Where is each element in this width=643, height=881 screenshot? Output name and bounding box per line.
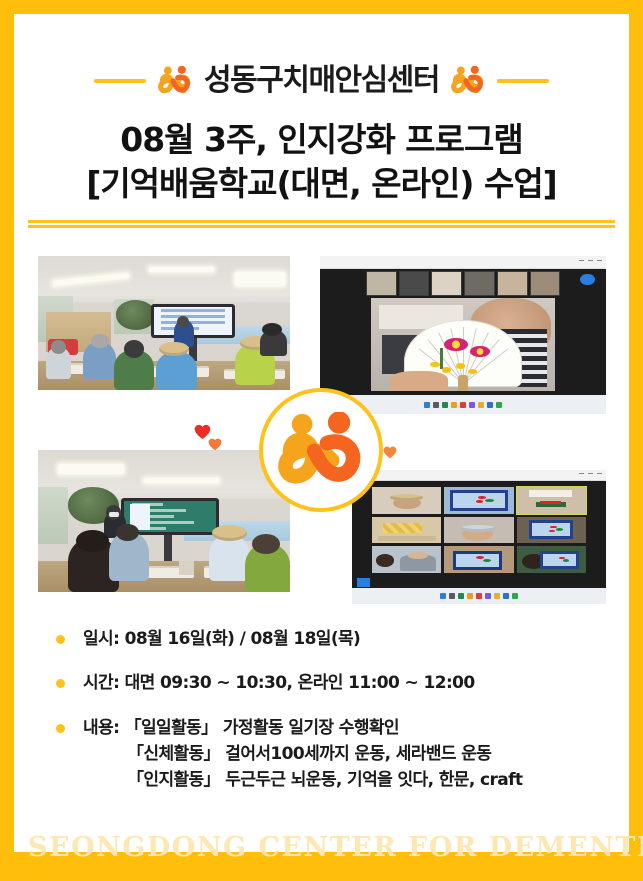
info-date: 일시: 08월 16일(화) / 08월 18일(목)	[83, 626, 360, 652]
header: 성동구치매안심센터	[14, 54, 629, 108]
footer-text: SEONGDONG CENTER FOR DEMENTIA	[28, 834, 615, 861]
center-logo-icon	[259, 388, 383, 512]
list-item: 내용: 「일일활동」 가정활동 일기장 수행확인 「신체활동」 걸어서100세까…	[28, 715, 615, 794]
center-logo-icon	[451, 66, 485, 96]
photo-bottom-right	[352, 470, 606, 604]
bullet-icon	[56, 635, 65, 644]
title-line-1: 08월 3주, 인지강화 프로그램	[14, 118, 629, 162]
list-item: 시간: 대면 09:30 ~ 10:30, 온라인 11:00 ~ 12:00	[28, 670, 615, 696]
title-divider	[28, 220, 615, 228]
heart-orange	[208, 438, 222, 451]
bullet-icon	[56, 679, 65, 688]
info-time: 시간: 대면 09:30 ~ 10:30, 온라인 11:00 ~ 12:00	[83, 670, 475, 696]
photo-bottom-left	[38, 450, 290, 592]
header-rule-left	[94, 79, 146, 83]
title-line-2: [기억배움학교(대면, 온라인) 수업]	[14, 162, 629, 206]
bullet-icon	[56, 724, 65, 733]
footer: SEONGDONG CENTER FOR DEMENTIA	[28, 834, 615, 861]
photo-top-left	[38, 256, 290, 390]
center-logo-icon	[158, 66, 192, 96]
center-logo-glyph	[278, 412, 364, 488]
heart-orange-right	[383, 446, 397, 459]
header-rule-right	[497, 79, 549, 83]
list-item: 일시: 08월 16일(화) / 08월 18일(목)	[28, 626, 615, 652]
poster-inner: 성동구치매안심센터 08월 3주, 인지강화 프로그램 [기억배움학교(대면, …	[14, 14, 629, 852]
info-content-sub-1: 「신체활동」 걸어서100세까지 운동, 세라밴드 운동	[83, 741, 522, 767]
info-content: 내용: 「일일활동」 가정활동 일기장 수행확인	[83, 715, 522, 741]
org-name: 성동구치매안심센터	[204, 66, 439, 96]
info-content-sub-2: 「인지활동」 두근두근 뇌운동, 기억을 잇다, 한문, craft	[83, 767, 522, 793]
poster: 성동구치매안심센터 08월 3주, 인지강화 프로그램 [기억배움학교(대면, …	[0, 0, 643, 881]
info-list: 일시: 08월 16일(화) / 08월 18일(목) 시간: 대면 09:30…	[28, 626, 615, 794]
photo-top-right	[320, 256, 606, 414]
page-title: 08월 3주, 인지강화 프로그램 [기억배움학교(대면, 온라인) 수업]	[14, 118, 629, 206]
